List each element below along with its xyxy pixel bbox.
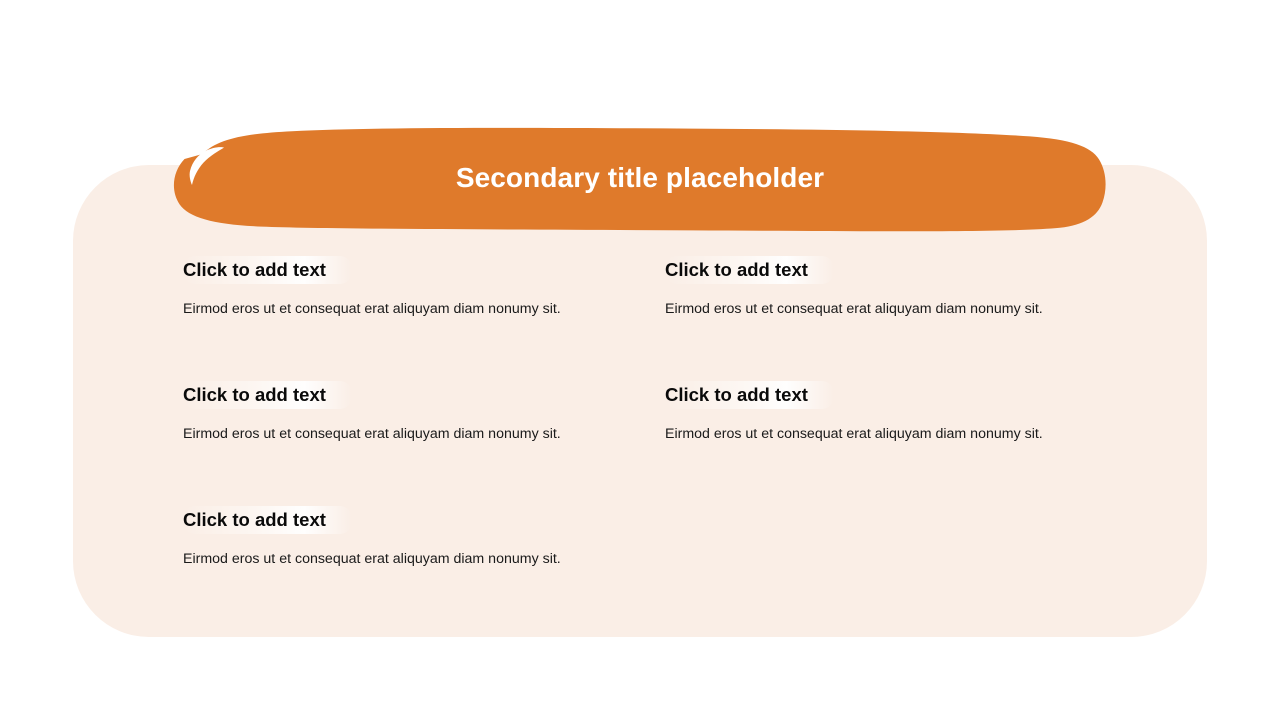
text-block[interactable]: Click to add text Eirmod eros ut et cons… <box>183 381 665 506</box>
text-block[interactable]: Click to add text Eirmod eros ut et cons… <box>665 381 1113 506</box>
block-body[interactable]: Eirmod eros ut et consequat erat aliquya… <box>665 284 1113 319</box>
text-block[interactable]: Click to add text Eirmod eros ut et cons… <box>665 256 1113 381</box>
block-body[interactable]: Eirmod eros ut et consequat erat aliquya… <box>183 284 665 319</box>
block-heading[interactable]: Click to add text <box>183 506 352 534</box>
text-block[interactable]: Click to add text Eirmod eros ut et cons… <box>183 506 665 631</box>
block-body[interactable]: Eirmod eros ut et consequat erat aliquya… <box>183 409 665 444</box>
block-heading[interactable]: Click to add text <box>665 256 834 284</box>
block-heading[interactable]: Click to add text <box>183 381 352 409</box>
body-grid: Click to add text Eirmod eros ut et cons… <box>183 256 1113 631</box>
text-block[interactable]: Click to add text Eirmod eros ut et cons… <box>183 256 665 381</box>
page-title: Secondary title placeholder <box>172 126 1108 232</box>
block-body[interactable]: Eirmod eros ut et consequat erat aliquya… <box>183 534 665 569</box>
slide-canvas: Secondary title placeholder Click to add… <box>0 0 1280 720</box>
block-body[interactable]: Eirmod eros ut et consequat erat aliquya… <box>665 409 1113 444</box>
block-heading[interactable]: Click to add text <box>183 256 352 284</box>
block-heading[interactable]: Click to add text <box>665 381 834 409</box>
title-banner[interactable]: Secondary title placeholder <box>172 126 1108 232</box>
